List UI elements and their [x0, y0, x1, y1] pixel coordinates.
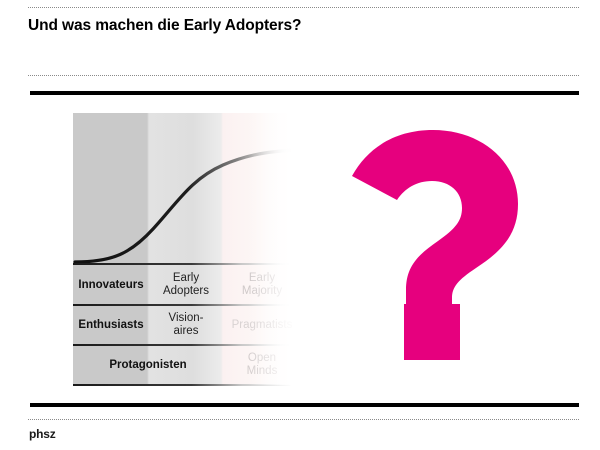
cell-pragmatists: Pragmatists [223, 305, 301, 345]
adoption-lifecycle-diagram: Innovateurs Early Adopters Early Majorit… [73, 113, 301, 385]
cell-innovateurs: Innovateurs [73, 265, 149, 305]
diagram-rows: Innovateurs Early Adopters Early Majorit… [73, 265, 301, 385]
cell-early-majority-line2: Majority [242, 285, 282, 297]
diagram-divider-2 [73, 344, 301, 346]
cell-protagonisten: Protagonisten [73, 345, 223, 385]
diagram-divider-1 [73, 304, 301, 306]
cell-visionaires: Vision- aires [149, 305, 223, 345]
diagram-divider-bottom [73, 384, 301, 386]
diagram-row-role: Protagonisten Open Minds [73, 345, 301, 385]
cell-open-minds-line2: Minds [247, 365, 278, 377]
adoption-curve-chart [73, 113, 301, 265]
cell-early-majority-line1: Early [249, 272, 275, 284]
question-mark-icon [348, 130, 518, 360]
diagram-row-attitude: Enthusiasts Vision- aires Pragmatists [73, 305, 301, 345]
page-title: Und was machen die Early Adopters? [28, 16, 573, 35]
cell-early-adopters-line2: Adopters [163, 285, 209, 297]
diagram-row-lifecycle: Innovateurs Early Adopters Early Majorit… [73, 265, 301, 305]
header-dotted-rule-bottom [28, 75, 579, 76]
cell-enthusiasts: Enthusiasts [73, 305, 149, 345]
cell-early-majority: Early Majority [223, 265, 301, 305]
cell-open-minds: Open Minds [223, 345, 301, 385]
cell-visionaires-line2: aires [174, 325, 199, 337]
header-thick-rule [30, 91, 579, 95]
footer-dotted-rule [28, 419, 579, 420]
cell-early-adopters-line1: Early [173, 272, 199, 284]
cell-early-adopters: Early Adopters [149, 265, 223, 305]
footer-logo: phsz [29, 427, 56, 441]
cell-visionaires-line1: Vision- [169, 312, 204, 324]
header-dotted-rule-top [28, 7, 579, 8]
cell-open-minds-line1: Open [248, 352, 276, 364]
footer-thick-rule [30, 403, 579, 407]
